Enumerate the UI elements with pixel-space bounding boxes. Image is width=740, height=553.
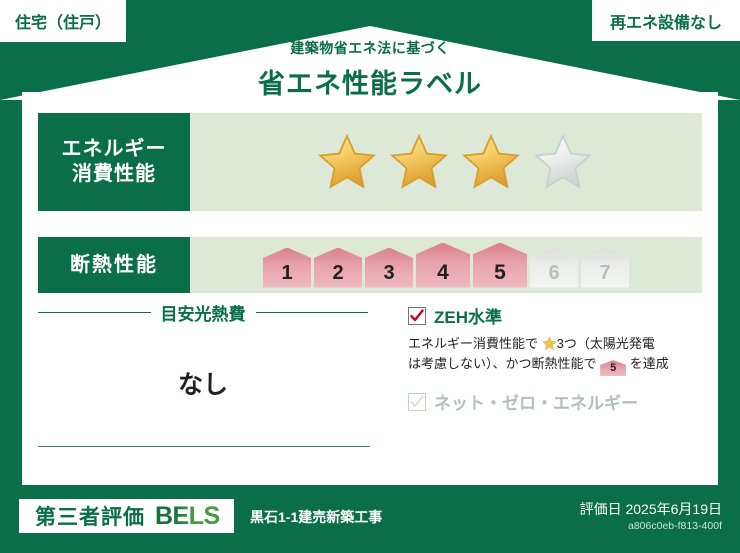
energy-performance-panel (190, 113, 702, 211)
energy-performance-label: エネルギー 消費性能 (38, 113, 190, 211)
star-filled-icon (316, 132, 378, 192)
zeh-desc-part1: エネルギー消費性能で (408, 336, 538, 351)
insulation-grade-badge: 1 (263, 248, 311, 288)
insulation-grade-value: 7 (599, 262, 610, 285)
insulation-grade-badge: 2 (314, 248, 362, 288)
zeh-desc-part4: を達成 (630, 356, 669, 371)
insulation-grade-badge: 5 (473, 243, 527, 288)
zeh-standard-title: ZEH水準 (434, 303, 502, 328)
insulation-grade-badge: 7 (581, 248, 629, 288)
insulation-label-text: 断熱性能 (70, 253, 158, 278)
heading-rule-left (38, 312, 151, 313)
mini-star-icon (542, 336, 557, 351)
third-party-evaluation-label: 第三者評価 (35, 501, 145, 531)
building-type-text: 住宅（住戸） (15, 9, 111, 33)
energy-performance-row: エネルギー 消費性能 (38, 113, 702, 211)
section-divider (38, 446, 370, 447)
renewable-energy-text: 再エネ設備なし (610, 9, 722, 33)
insulation-grade-badge: 3 (365, 248, 413, 288)
insulation-grade-value: 6 (548, 262, 559, 285)
heading-rule-right (256, 312, 369, 313)
star-filled-icon (388, 132, 450, 192)
utility-cost-heading-text: 目安光熱費 (161, 300, 246, 325)
inline-grade-badge: 5 (600, 360, 626, 376)
insulation-performance-label: 断熱性能 (38, 237, 190, 293)
net-zero-energy-row: ネット・ゼロ・エネルギー (408, 389, 708, 414)
zeh-checkbox-checked (408, 307, 426, 325)
renewable-energy-badge: 再エネ設備なし (592, 0, 740, 41)
insulation-grade-value: 4 (437, 261, 449, 285)
zeh-standard-description: エネルギー消費性能で 3つ（太陽光発電 は考慮しない）、かつ断熱性能で 5 を達… (408, 334, 708, 376)
zeh-desc-part2: 3つ（太陽光発電 (557, 336, 655, 351)
net-zero-energy-title: ネット・ゼロ・エネルギー (434, 389, 638, 414)
insulation-grade-value: 5 (494, 261, 506, 285)
utility-cost-heading: 目安光熱費 (38, 300, 368, 325)
insulation-grade-value: 3 (383, 262, 394, 285)
star-filled-icon (460, 132, 522, 192)
zeh-desc-part3: は考慮しない）、かつ断熱性能で (408, 356, 597, 371)
insulation-grade-badge: 6 (530, 248, 578, 288)
energy-label-line2: 消費性能 (72, 162, 156, 187)
insulation-grade-value: 2 (332, 262, 343, 285)
star-rating (316, 132, 594, 192)
bels-logo-text: BELS (155, 502, 220, 531)
utility-cost-block: 目安光熱費 なし (38, 300, 368, 401)
insulation-performance-row: 断熱性能 1234567 (38, 237, 702, 293)
building-type-badge: 住宅（住戸） (0, 0, 126, 42)
insulation-grade-value: 1 (281, 262, 292, 285)
title-main: 省エネ性能ラベル (0, 62, 740, 101)
label-title-block: 建築物省エネ法に基づく 省エネ性能ラベル (0, 38, 740, 101)
energy-label-line1: エネルギー (62, 137, 167, 162)
star-empty-icon (532, 132, 594, 192)
project-name: 黒石1-1建売新築工事 (250, 507, 382, 527)
utility-cost-value: なし (38, 365, 368, 401)
insulation-grade-badge: 4 (416, 243, 470, 288)
insulation-performance-panel: 1234567 (190, 237, 702, 293)
label-footer: 第三者評価 BELS 黒石1-1建売新築工事 評価日 2025年6月19日 a8… (0, 485, 740, 553)
evaluation-date: 評価日 2025年6月19日 (580, 499, 722, 519)
insulation-grade-scale: 1234567 (263, 243, 629, 288)
evaluation-id: a806c0eb-f813-400f (628, 520, 722, 532)
bels-energy-performance-label: 住宅（住戸） 再エネ設備なし 建築物省エネ法に基づく 省エネ性能ラベル エネルギ… (0, 0, 740, 553)
title-subtitle: 建築物省エネ法に基づく (0, 38, 740, 58)
bels-certification-mark: 第三者評価 BELS (19, 499, 234, 533)
zeh-standard-row: ZEH水準 (408, 303, 708, 328)
net-zero-energy-checkbox-unchecked (408, 393, 426, 411)
zeh-block: ZEH水準 エネルギー消費性能で 3つ（太陽光発電 は考慮しない）、かつ断熱性能… (408, 303, 708, 414)
